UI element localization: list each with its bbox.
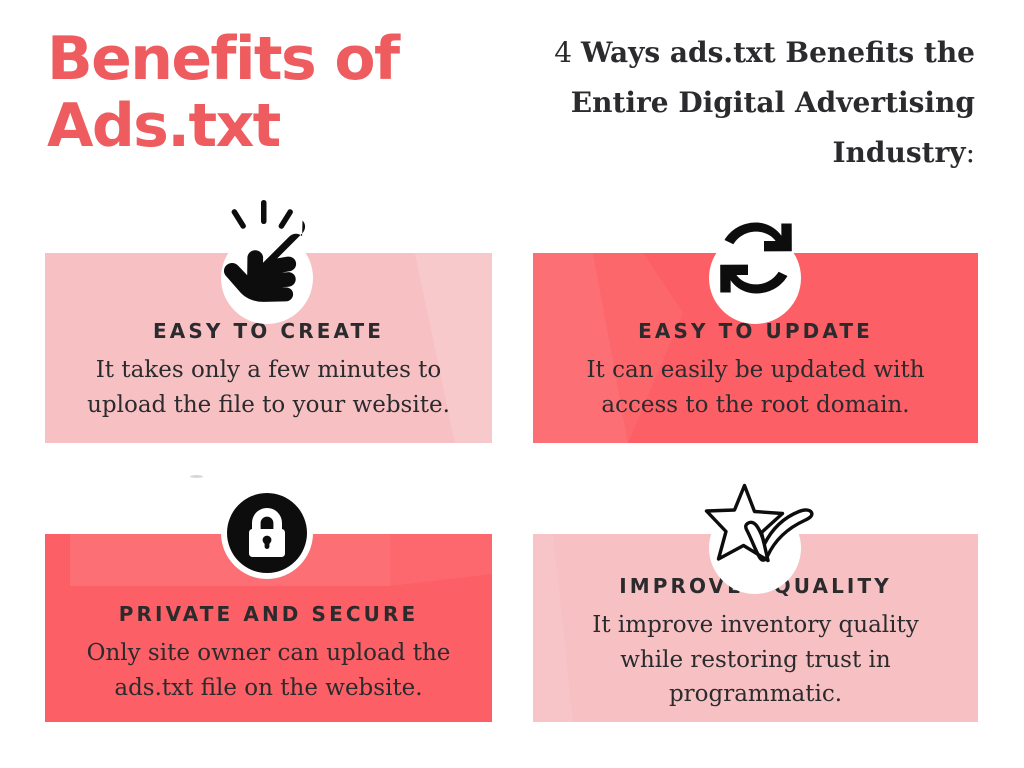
infographic-canvas: Benefits of Ads.txt 4 Ways ads.txt Benef… xyxy=(0,0,1024,768)
padlock-icon xyxy=(227,493,307,573)
refresh-sync-icon xyxy=(707,213,805,303)
subtitle-lead: 4 xyxy=(554,36,581,69)
tapping-hand-icon xyxy=(219,198,319,308)
page-title: Benefits of Ads.txt xyxy=(47,26,467,160)
card-body-text: It takes only a few minutes to upload th… xyxy=(61,353,476,422)
card-body-text: It improve inventory quality while resto… xyxy=(549,608,962,712)
card-body-text: Only site owner can upload the ads.txt f… xyxy=(61,636,476,705)
subtitle-trail: : xyxy=(966,136,975,169)
card-body-text: It can easily be updated with access to … xyxy=(549,353,962,422)
subtitle: 4 Ways ads.txt Benefits the Entire Digit… xyxy=(505,28,975,177)
star-check-icon xyxy=(706,482,816,574)
card-heading: PRIVATE AND SECURE xyxy=(45,602,492,626)
image-artifact-speck xyxy=(190,475,203,478)
subtitle-bold: Ways ads.txt Benefits the Entire Digital… xyxy=(571,36,975,169)
